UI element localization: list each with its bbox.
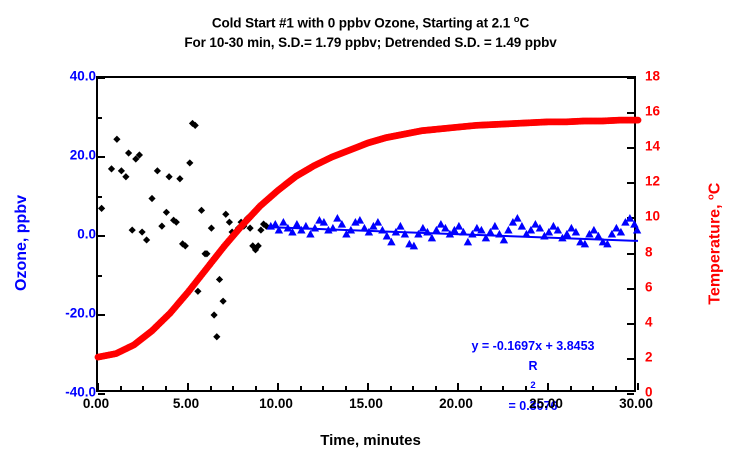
plot-area: y = -0.1697x + 3.8453 R2 = 0.3076: [96, 76, 636, 392]
y2-tick-label: 4: [645, 314, 653, 329]
y-tick-label: 20.0: [70, 148, 96, 163]
x-tick-label: 20.00: [439, 396, 473, 411]
chart-title-line-1: Cold Start #1 with 0 ppbv Ozone, Startin…: [0, 10, 741, 33]
x-tick-label: 25.00: [529, 396, 563, 411]
y2-tick-label: 10: [645, 209, 660, 224]
y2-tick-label: 14: [645, 139, 660, 154]
chart-title: Cold Start #1 with 0 ppbv Ozone, Startin…: [0, 10, 741, 52]
x-tick-label: 15.00: [349, 396, 383, 411]
x-tick-label: 0.00: [83, 396, 109, 411]
y2-tick-label: 12: [645, 174, 660, 189]
series-diamond: [98, 120, 270, 341]
y2-tick-label: 6: [645, 279, 653, 294]
chart-title-line-2: For 10-30 min, S.D.= 1.79 ppbv; Detrende…: [0, 33, 741, 52]
y2-tick-label: 16: [645, 104, 660, 119]
x-tick-label: 5.00: [173, 396, 199, 411]
y-tick-label: 40.0: [70, 69, 96, 84]
x-tick-label: 10.00: [259, 396, 293, 411]
secondary-y-axis-title: Temperature, oC: [705, 114, 724, 374]
regression-equation: y = -0.1697x + 3.8453: [428, 336, 638, 356]
y-tick-label: -20.0: [65, 306, 96, 321]
y-axis-title: Ozone, ppbv: [13, 113, 31, 373]
series-triangle: [267, 214, 642, 249]
y2-tick-label: 8: [645, 244, 653, 259]
y2-tick-label: 2: [645, 349, 653, 364]
y-tick-label: 0.0: [77, 227, 96, 242]
x-axis-title: Time, minutes: [0, 432, 741, 449]
y2-tick-label: 18: [645, 69, 660, 84]
x-tick-label: 30.00: [619, 396, 653, 411]
